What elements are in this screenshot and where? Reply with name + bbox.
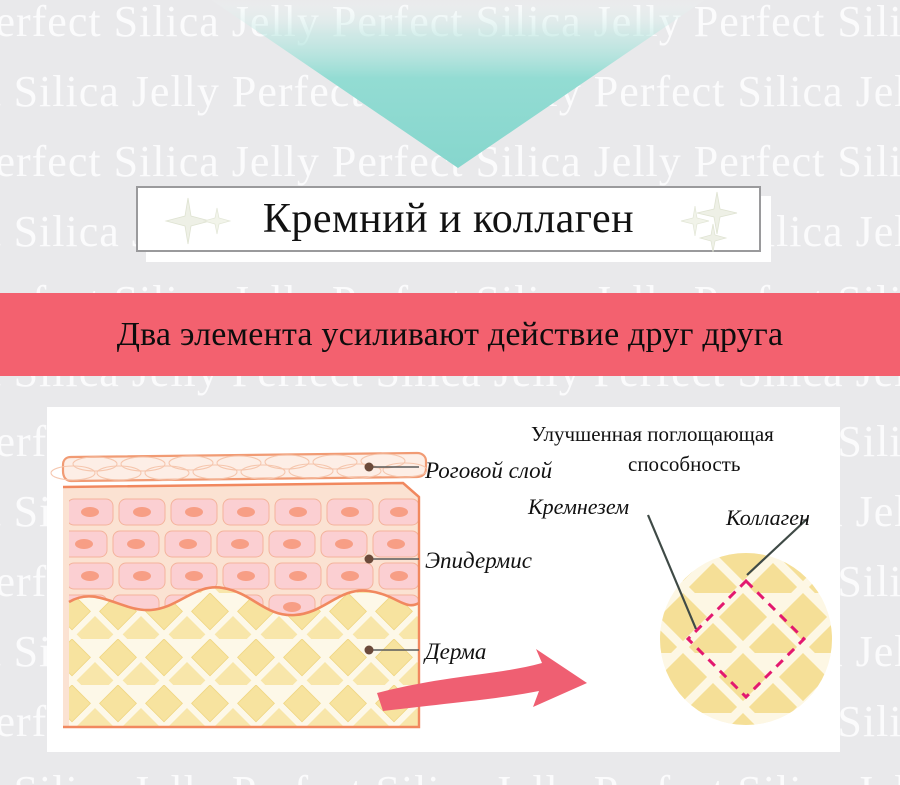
leader-dot bbox=[365, 555, 374, 564]
label-epidermis: Эпидермис bbox=[425, 548, 532, 574]
watermark-row: Perfect Silica Jelly Perfect Silica Jell… bbox=[0, 770, 900, 785]
label-absorption-line2: способность bbox=[628, 452, 740, 477]
subtitle-banner: Два элемента усиливают действие друг дру… bbox=[0, 293, 900, 376]
label-absorption-line1: Улучшенная поглощающая bbox=[531, 422, 774, 447]
teal-triangle-svg bbox=[0, 0, 900, 175]
leader-dot bbox=[365, 463, 374, 472]
label-collagen: Коллаген bbox=[726, 505, 810, 531]
label-dermis: Дерма bbox=[425, 639, 486, 665]
title-box: Кремний и коллаген bbox=[136, 186, 761, 252]
magnified-collagen-circle bbox=[657, 550, 837, 730]
page-title: Кремний и коллаген bbox=[263, 195, 634, 243]
sparkle-icon bbox=[158, 194, 238, 248]
label-silica: Кремнезем bbox=[528, 494, 629, 520]
sparkle-icon bbox=[679, 190, 751, 252]
leader-dot bbox=[365, 646, 374, 655]
subtitle-banner-text: Два элемента усиливают действие друг дру… bbox=[117, 316, 784, 354]
label-stratum-corneum: Роговой слой bbox=[425, 458, 552, 484]
layer-dermis bbox=[57, 577, 437, 737]
teal-triangle-banner bbox=[0, 0, 900, 175]
